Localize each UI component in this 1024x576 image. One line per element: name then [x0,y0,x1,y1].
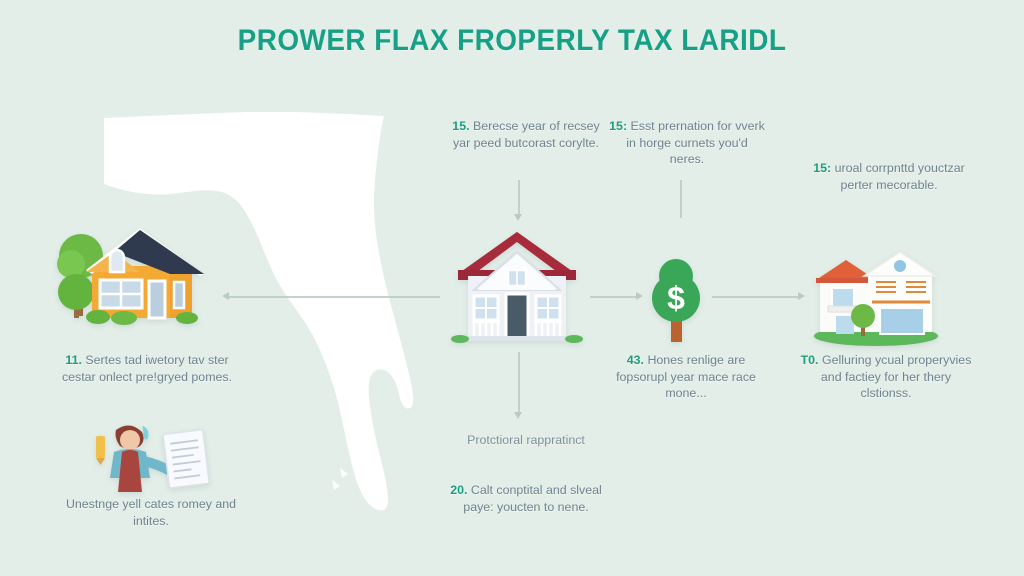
gable-window [110,250,124,272]
infographic-canvas: PROWER FLAX FROPERLY TAX LARIDL [0,0,1024,576]
garage-door [880,308,924,334]
page-title: PROWER FLAX FROPERLY TAX LARIDL [36,24,988,58]
caption-center-bottom: 20. Calt conptital and slveal paye: youc… [444,482,608,515]
left-wing-roof [816,260,876,280]
small-tree-foliage [851,304,875,328]
caption-top-center: 15. Berecse year of recsey yar peed butc… [448,118,604,151]
caption-left-house-number: 11. [65,353,82,367]
house-door-center [506,294,528,338]
caption-top-center-text: Berecse year of recsey yar peed butcoras… [453,119,600,150]
caption-right-house-number: T0. [801,353,819,367]
arrow-down-icon-top [514,214,522,221]
house-door-left [149,281,165,318]
round-attic-window [894,260,906,272]
arrow-down-icon-bottom [514,412,522,419]
connector-top-to-center [518,180,520,216]
caption-center-bottom-text: Calt conptital and slveal paye: youcten … [463,483,601,514]
grass-right [565,335,583,343]
connector-center-to-left [228,296,440,298]
illustration-person-document [80,418,210,496]
grass-left [451,335,469,343]
bush-2 [111,311,137,325]
connector-top-right-down [680,180,682,218]
illustration-two-story-house [806,248,946,348]
caption-right-house-text: Gelluring ycual properyvies and factiey … [821,353,972,400]
caption-money-tree-number: 43. [627,353,644,367]
illustration-money-tree: $ [634,252,720,346]
caption-top-center-number: 15. [452,119,469,133]
illustration-white-house [442,222,592,348]
caption-money-tree: 43. Hones renlige are fopsorupl year mac… [604,352,768,402]
side-window [174,282,184,308]
caption-top-right-text: uroal corrpnttd youctzar perter mecorabl… [835,161,965,192]
connector-center-to-tree [590,296,638,298]
caption-left-house: 11. Sertes tad iwetory tav ster cestar o… [56,352,238,385]
florida-keys-shape [332,468,348,490]
balcony-window [832,288,854,308]
face [120,430,140,450]
caption-top-mid-right-text: Esst prernation for vverk in horge curne… [626,119,765,166]
pencil-icon [96,436,105,458]
caption-top-mid-right: 15: Esst prernation for vverk in horge c… [608,118,766,168]
tree-foliage-small [58,274,94,310]
arrow-right-icon-house [798,292,805,300]
bush-3 [176,312,198,324]
caption-top-right: 15: uroal corrpnttd youctzar perter meco… [806,160,972,193]
caption-top-mid-right-number: 15: [609,119,627,133]
caption-bottom-left-text: Unestnge yell cates romey and intites. [66,497,236,528]
lower-window-left [836,316,854,334]
document-icon [163,430,209,488]
porch-base [466,336,568,341]
caption-top-right-number: 15: [813,161,831,175]
connector-center-to-bottom [518,352,520,414]
illustration-orange-house [52,218,222,338]
caption-center-subhead: Protctioral rappratinct [450,432,602,449]
tree-foliage-tall-2 [57,250,85,278]
caption-right-house: T0. Gelluring ycual properyvies and fact… [798,352,974,402]
apron [118,450,142,492]
dollar-sign-icon: $ [667,280,685,316]
caption-bottom-left: Unestnge yell cates romey and intites. [62,496,240,529]
arrow-left-icon [222,292,229,300]
connector-tree-to-right [712,296,800,298]
caption-left-house-text: Sertes tad iwetory tav ster cestar onlec… [62,353,232,384]
caption-center-bottom-number: 20. [450,483,467,497]
bush-1 [86,310,110,324]
caption-center-subhead-text: Protctioral rappratinct [467,433,585,447]
